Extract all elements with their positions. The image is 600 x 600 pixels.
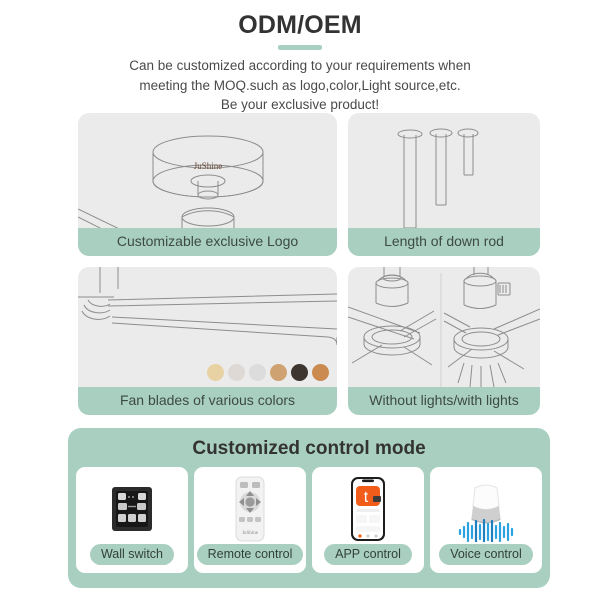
swatch-white-marble[interactable] [228, 364, 245, 381]
infographic-page: ODM/OEM Can be customized according to y… [0, 0, 600, 600]
swatch-sand-beige[interactable] [207, 364, 224, 381]
control-mode-panel: Customized control mode [68, 428, 550, 588]
swatch-dark-walnut[interactable] [291, 364, 308, 381]
control-label-app: APP control [324, 544, 412, 565]
swatch-light-grey[interactable] [249, 364, 266, 381]
feature-label-lights: Without lights/with lights [348, 387, 540, 415]
subtitle-line-3: Be your exclusive product! [65, 95, 535, 115]
feature-card-logo[interactable]: JuShine Customizable exclusive Logo [78, 113, 337, 256]
control-card-wall-switch[interactable]: Wall switch [76, 467, 188, 573]
feature-label-logo: Customizable exclusive Logo [78, 228, 337, 256]
subtitle-line-1: Can be customized according to your requ… [65, 56, 535, 76]
smartphone-app-icon: t [312, 473, 424, 544]
feature-card-blades[interactable]: Fan blades of various colors [78, 267, 337, 415]
swatch-copper-oak[interactable] [312, 364, 329, 381]
feature-label-blades: Fan blades of various colors [78, 387, 337, 415]
control-label-voice: Voice control [439, 544, 533, 565]
feature-card-lights[interactable]: Without lights/with lights [348, 267, 540, 415]
control-card-voice[interactable]: Voice control [430, 467, 542, 573]
control-label-remote: Remote control [197, 544, 304, 565]
blade-color-swatches[interactable] [207, 364, 329, 381]
header: ODM/OEM Can be customized according to y… [0, 0, 600, 115]
wall-switch-icon [76, 473, 188, 544]
feature-label-downrod: Length of down rod [348, 228, 540, 256]
app-icon-letter: t [364, 489, 369, 506]
logo-text: JuShine [194, 161, 223, 171]
swatch-natural-wood[interactable] [270, 364, 287, 381]
control-mode-cards: Wall switch [68, 461, 550, 573]
control-card-app[interactable]: t APP control [312, 467, 424, 573]
control-card-remote[interactable]: JuShine Remote control [194, 467, 306, 573]
remote-brand-text: JuShine [242, 531, 259, 536]
feature-grid: JuShine Customizable exclusive Logo [78, 113, 540, 415]
control-label-wall-switch: Wall switch [90, 544, 174, 565]
smart-speaker-icon [430, 473, 542, 544]
title-underline [278, 45, 322, 50]
control-mode-title: Customized control mode [68, 428, 550, 461]
feature-card-downrod[interactable]: Length of down rod [348, 113, 540, 256]
remote-control-icon: JuShine [194, 473, 306, 544]
subtitle-line-2: meeting the MOQ.such as logo,color,Light… [65, 76, 535, 96]
header-subtitle: Can be customized according to your requ… [65, 56, 535, 115]
page-title: ODM/OEM [0, 8, 600, 42]
